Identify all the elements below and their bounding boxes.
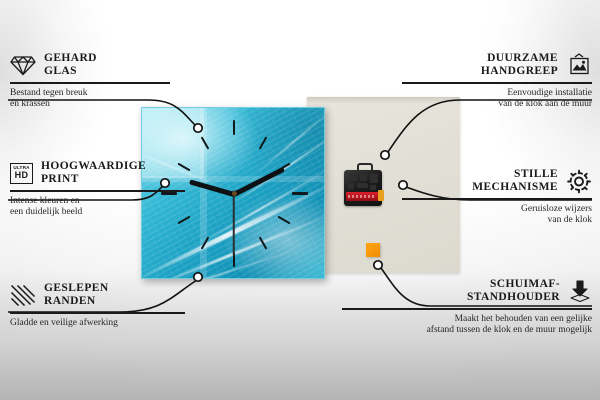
foam-spacer-icon (568, 279, 592, 303)
callout-gehard-glas-rule (10, 82, 170, 84)
bevelled-edges-icon (10, 284, 36, 306)
picture-hanger-icon (566, 53, 592, 77)
ultra-hd-icon: ultra HD (10, 163, 33, 184)
callout-stille-mechanisme-rule (402, 198, 592, 200)
leader-endpoint-gehard-glas (194, 124, 202, 132)
callout-hoogwaardige-print-subtitle: Intense kleuren en een duidelijk beeld (10, 196, 185, 219)
callout-gehard-glas-header: GEHARD GLAS (10, 52, 170, 78)
callout-stille-mechanisme: STILLE MECHANISME Geruisloze wijzers van… (402, 168, 592, 227)
callout-stille-mechanisme-header: STILLE MECHANISME (402, 168, 592, 194)
callout-duurzame-handgreep: DUURZAME HANDGREEP Eenvoudige installati… (402, 52, 592, 111)
infographic-canvas: GEHARD GLAS Bestand tegen breuk en krass… (0, 0, 600, 400)
callout-schuimafstandhouder-subtitle: Maakt het behouden van een gelijke afsta… (342, 314, 592, 337)
callout-hoogwaardige-print-rule (10, 190, 185, 192)
leader-endpoint-geslepen-randen (194, 273, 202, 281)
callout-schuimafstandhouder-rule (342, 308, 592, 310)
callout-hoogwaardige-print-header: ultra HD HOOGWAARDIGE PRINT (10, 160, 185, 186)
callout-duurzame-handgreep-rule (402, 82, 592, 84)
gear-icon (566, 169, 592, 194)
diamond-icon (10, 54, 36, 76)
callout-geslepen-randen-subtitle: Gladde en veilige afwerking (10, 318, 185, 330)
callout-geslepen-randen-rule (10, 312, 185, 314)
callout-geslepen-randen-header: GESLEPEN RANDEN (10, 282, 185, 308)
callout-stille-mechanisme-title: STILLE MECHANISME (472, 168, 558, 194)
callout-duurzame-handgreep-subtitle: Eenvoudige installatie van de klok aan d… (402, 88, 592, 111)
leader-endpoint-duurzame-handgreep (381, 151, 389, 159)
callout-hoogwaardige-print-title: HOOGWAARDIGE PRINT (41, 160, 146, 186)
callout-gehard-glas-title: GEHARD GLAS (44, 52, 97, 78)
callout-duurzame-handgreep-header: DUURZAME HANDGREEP (402, 52, 592, 78)
callout-gehard-glas: GEHARD GLAS Bestand tegen breuk en krass… (10, 52, 170, 111)
leader-endpoint-schuimafstandhouder (374, 261, 382, 269)
callout-hoogwaardige-print: ultra HD HOOGWAARDIGE PRINT Intense kleu… (10, 160, 185, 219)
callout-schuimafstandhouder: SCHUIMAF- STANDHOUDER Maakt het behouden… (342, 278, 592, 337)
callout-stille-mechanisme-subtitle: Geruisloze wijzers van de klok (402, 204, 592, 227)
callout-gehard-glas-subtitle: Bestand tegen breuk en krassen (10, 88, 170, 111)
callout-duurzame-handgreep-title: DUURZAME HANDGREEP (481, 52, 558, 78)
callout-schuimafstandhouder-title: SCHUIMAF- STANDHOUDER (467, 278, 560, 304)
callout-schuimafstandhouder-header: SCHUIMAF- STANDHOUDER (342, 278, 592, 304)
ultra-hd-icon-bottom-label: HD (15, 171, 29, 180)
callout-geslepen-randen-title: GESLEPEN RANDEN (44, 282, 109, 308)
callout-geslepen-randen: GESLEPEN RANDEN Gladde en veilige afwerk… (10, 282, 185, 329)
